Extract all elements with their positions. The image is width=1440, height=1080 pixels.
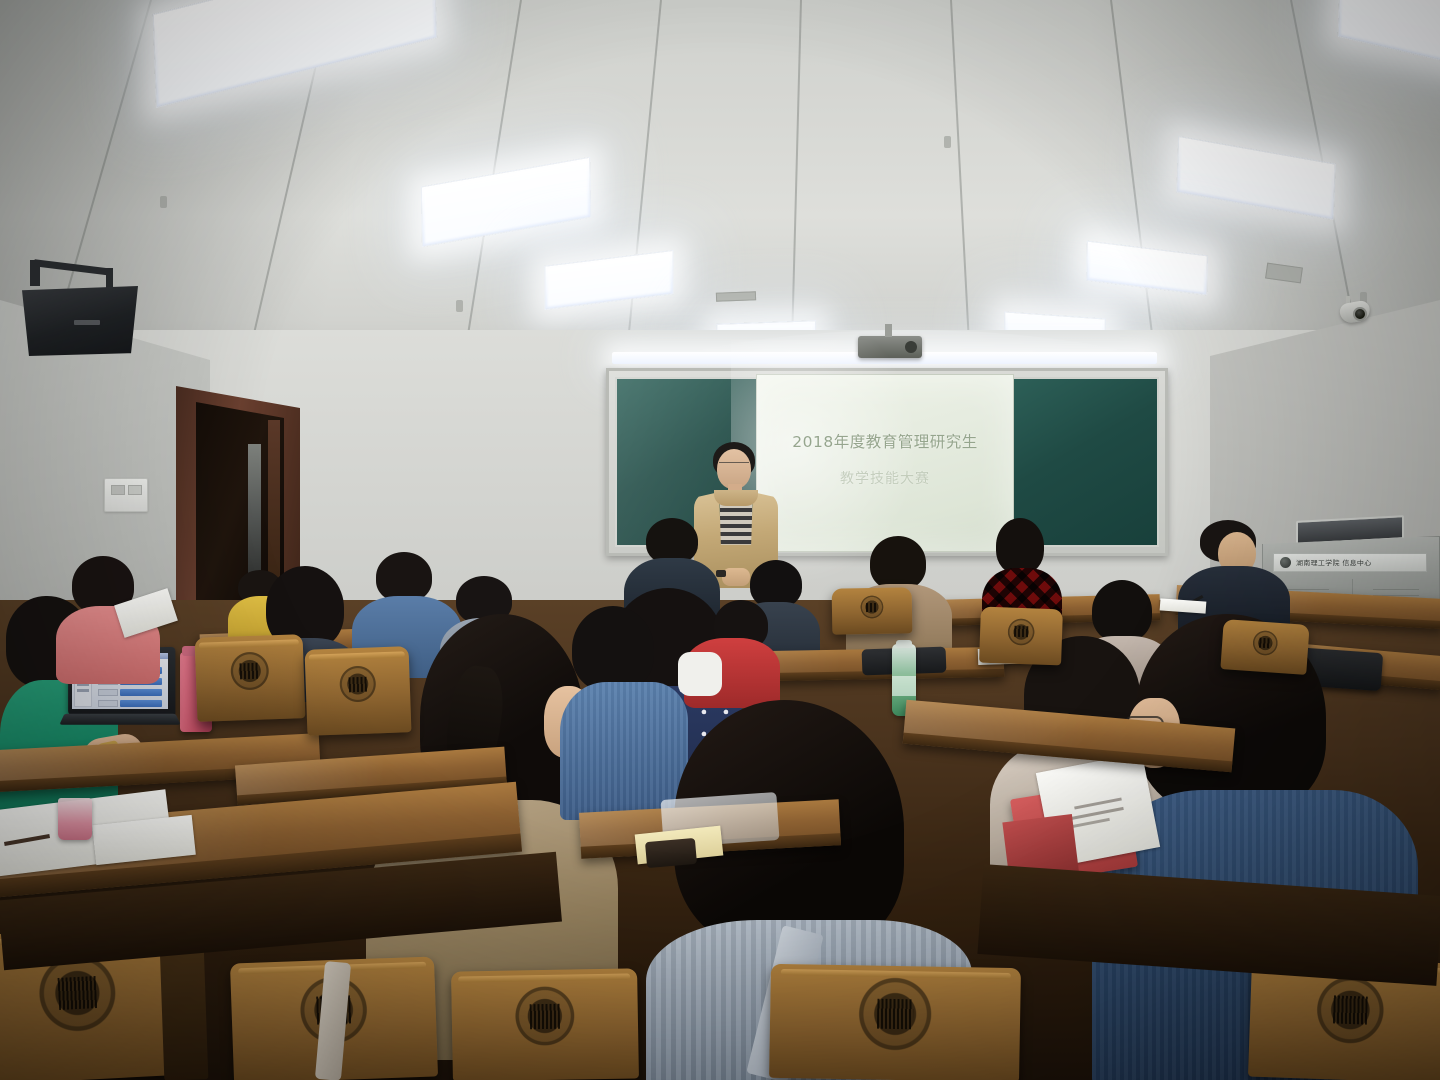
person-sleeve	[678, 652, 722, 696]
audience-person	[684, 600, 780, 696]
table-row-label	[98, 700, 118, 707]
bottle-label	[892, 676, 916, 696]
projection-screen: 2018年度教育管理研究生 教学技能大赛	[756, 374, 1014, 552]
person-hair	[870, 536, 926, 590]
ceiling-hanger-icon	[160, 196, 167, 208]
wooden-chair[interactable]	[832, 587, 913, 634]
chair-seal-emblem	[1314, 974, 1386, 1046]
speaker-brand-badge	[74, 320, 100, 325]
presenter-glasses-icon	[719, 462, 749, 467]
podium-louver	[1373, 589, 1419, 590]
ceiling-panel-light	[544, 250, 673, 310]
chair-seal-emblem	[860, 595, 884, 619]
chair-seal-emblem	[513, 985, 576, 1048]
pink-cup	[58, 798, 92, 840]
ceiling-seam	[790, 0, 802, 372]
speaker-bracket	[106, 268, 113, 290]
classroom-photo: 2018年度教育管理研究生 教学技能大赛 湖南理工学院 信息中心	[0, 0, 1440, 1080]
person-hair	[996, 518, 1044, 574]
ceiling-vent	[716, 291, 756, 301]
projector-mount	[885, 324, 892, 337]
chair-seal-emblem	[229, 651, 270, 692]
wooden-chair[interactable]	[305, 646, 412, 736]
camera-lens-icon	[1353, 307, 1367, 321]
person-hair	[572, 606, 654, 692]
black-bag	[645, 838, 697, 868]
ceiling-seam	[950, 0, 971, 372]
table-row[interactable]	[120, 700, 162, 707]
chair-seal-emblem	[857, 975, 934, 1052]
bottle-cap-icon	[896, 640, 912, 648]
table-row-label	[98, 689, 118, 696]
ceiling-hanger-icon	[456, 300, 463, 312]
table-row[interactable]	[120, 689, 162, 696]
security-camera	[1340, 296, 1374, 324]
wooden-chair[interactable]	[1220, 619, 1309, 675]
chair-top-rail	[309, 651, 405, 660]
person-hair	[376, 552, 432, 602]
wooden-chair[interactable]	[979, 607, 1063, 666]
slide-title-line1: 2018年度教育管理研究生	[792, 430, 977, 452]
switch-rocker-icon[interactable]	[128, 485, 142, 495]
wooden-chair[interactable]	[769, 964, 1021, 1080]
laptop-keyboard[interactable]	[59, 714, 180, 725]
presenter-jacket-collar	[714, 490, 758, 506]
projector-lens-icon	[905, 341, 917, 353]
presenter-head	[717, 449, 751, 489]
podium-sign-text: 湖南理工学院 信息中心	[1296, 558, 1372, 567]
chair-seal-emblem	[1007, 617, 1036, 646]
sidebar-row	[77, 689, 89, 692]
podium-sign: 湖南理工学院 信息中心	[1273, 553, 1427, 572]
suspended-ceiling	[0, 0, 1440, 372]
chair-seal-emblem	[1251, 629, 1279, 657]
ceiling-hanger-icon	[944, 136, 951, 148]
wall-speaker	[22, 276, 140, 358]
switch-rocker-icon[interactable]	[111, 485, 125, 495]
wooden-chair[interactable]	[451, 968, 639, 1080]
wooden-chair[interactable]	[160, 943, 209, 1080]
wall-switch-plate[interactable]	[104, 478, 148, 512]
chair-top-rail	[459, 974, 630, 983]
slide-title-line2: 教学技能大赛	[840, 468, 930, 488]
chair-top-rail	[199, 639, 299, 648]
ceiling-seam	[624, 0, 662, 370]
chair-seal-emblem	[338, 664, 377, 703]
wooden-chair[interactable]	[195, 634, 306, 722]
ceiling-projector	[858, 336, 922, 358]
